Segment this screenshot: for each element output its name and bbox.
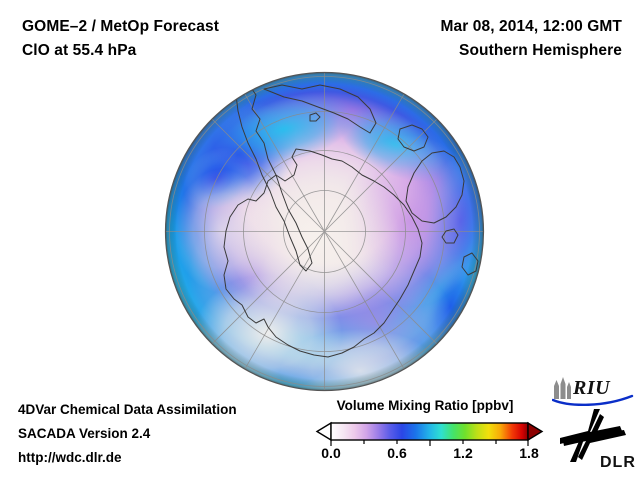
- colorbar: Volume Mixing Ratio [ppbv] 0: [300, 398, 550, 470]
- dlr-logo: DLR: [560, 408, 638, 470]
- footer-line-url: http://wdc.dlr.de: [18, 450, 122, 465]
- colorbar-bar: [331, 423, 528, 440]
- figure-canvas: GOME–2 / MetOp Forecast ClO at 55.4 hPa …: [0, 0, 640, 480]
- header-region: Southern Hemisphere: [459, 42, 622, 60]
- colorbar-tick-0: 0.0: [321, 445, 340, 461]
- footer-line-version: SACADA Version 2.4: [18, 426, 150, 441]
- colorbar-low-arrow: [317, 423, 331, 440]
- colorbar-tick-1: 0.6: [387, 445, 406, 461]
- riu-towers-icon: [554, 377, 571, 399]
- dlr-wordmark: DLR: [600, 454, 636, 470]
- graticule-meridians: [165, 72, 484, 391]
- colorbar-tick-3: 1.8: [519, 445, 538, 461]
- colorbar-high-arrow: [528, 423, 542, 440]
- header-instrument: GOME–2 / MetOp Forecast: [22, 18, 219, 36]
- riu-wordmark: RIU: [572, 377, 611, 399]
- header-datetime: Mar 08, 2014, 12:00 GMT: [440, 18, 622, 36]
- colorbar-title: Volume Mixing Ratio [ppbv]: [300, 398, 550, 413]
- globe-map: [164, 71, 485, 392]
- header-species: ClO at 55.4 hPa: [22, 42, 136, 60]
- colorbar-tick-2: 1.2: [453, 445, 472, 461]
- riu-logo: RIU: [552, 373, 636, 407]
- footer-line-method: 4DVar Chemical Data Assimilation: [18, 402, 237, 417]
- colorbar-scale: [300, 418, 550, 448]
- colorbar-tick-labels: 0.0 0.6 1.2 1.8: [300, 445, 550, 469]
